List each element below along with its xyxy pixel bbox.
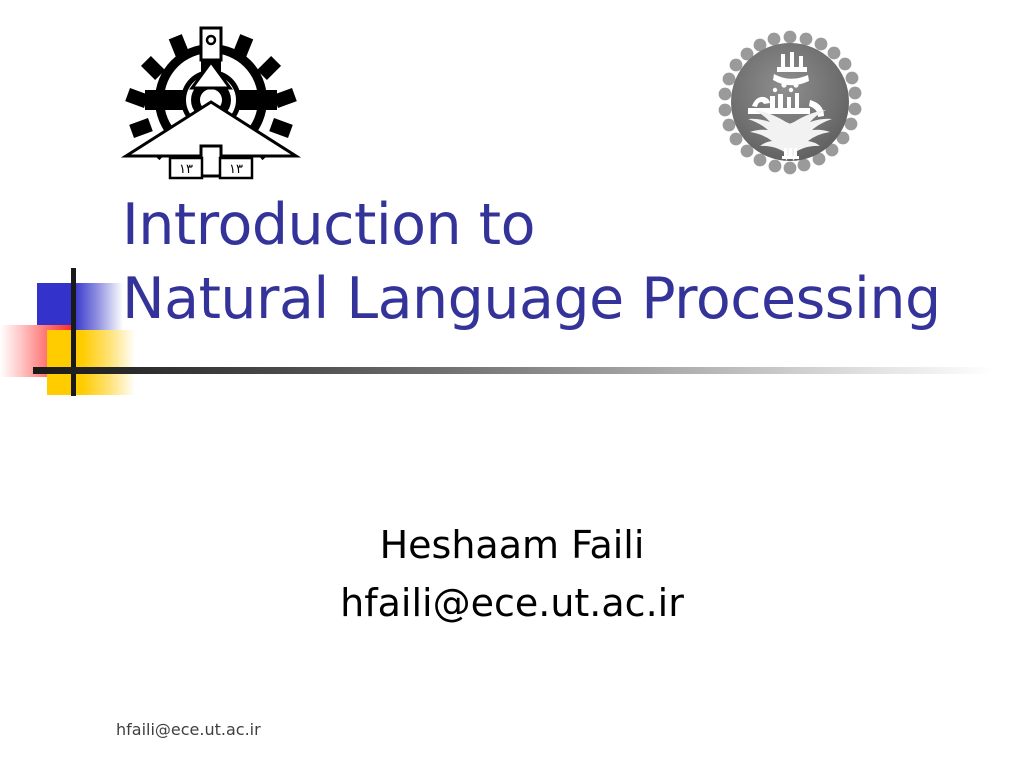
author-name: Heshaam Faili <box>0 516 1024 574</box>
author-block: Heshaam Faili hfaili@ece.ut.ac.ir <box>0 516 1024 632</box>
presentation-slide: ۱۳ ۱۳ <box>0 0 1024 768</box>
svg-text:۱۳: ۱۳ <box>229 162 243 177</box>
author-email: hfaili@ece.ut.ac.ir <box>0 574 1024 632</box>
accent-blue-square <box>37 283 123 345</box>
engineering-faculty-logo-icon: ۱۳ ۱۳ <box>112 26 310 184</box>
title-line-2: Natural Language Processing <box>122 262 982 336</box>
accent-horizontal-rule <box>33 367 993 374</box>
page-title: Introduction to Natural Language Process… <box>122 188 982 336</box>
accent-vertical-rule <box>71 268 76 396</box>
accent-red-rectangle <box>0 325 72 377</box>
accent-yellow-square <box>47 330 135 395</box>
slide-footer: hfaili@ece.ut.ac.ir <box>116 720 261 739</box>
title-line-1: Introduction to <box>122 188 982 262</box>
university-of-tehran-logo-icon <box>718 30 862 178</box>
svg-text:۱۳: ۱۳ <box>179 162 193 177</box>
